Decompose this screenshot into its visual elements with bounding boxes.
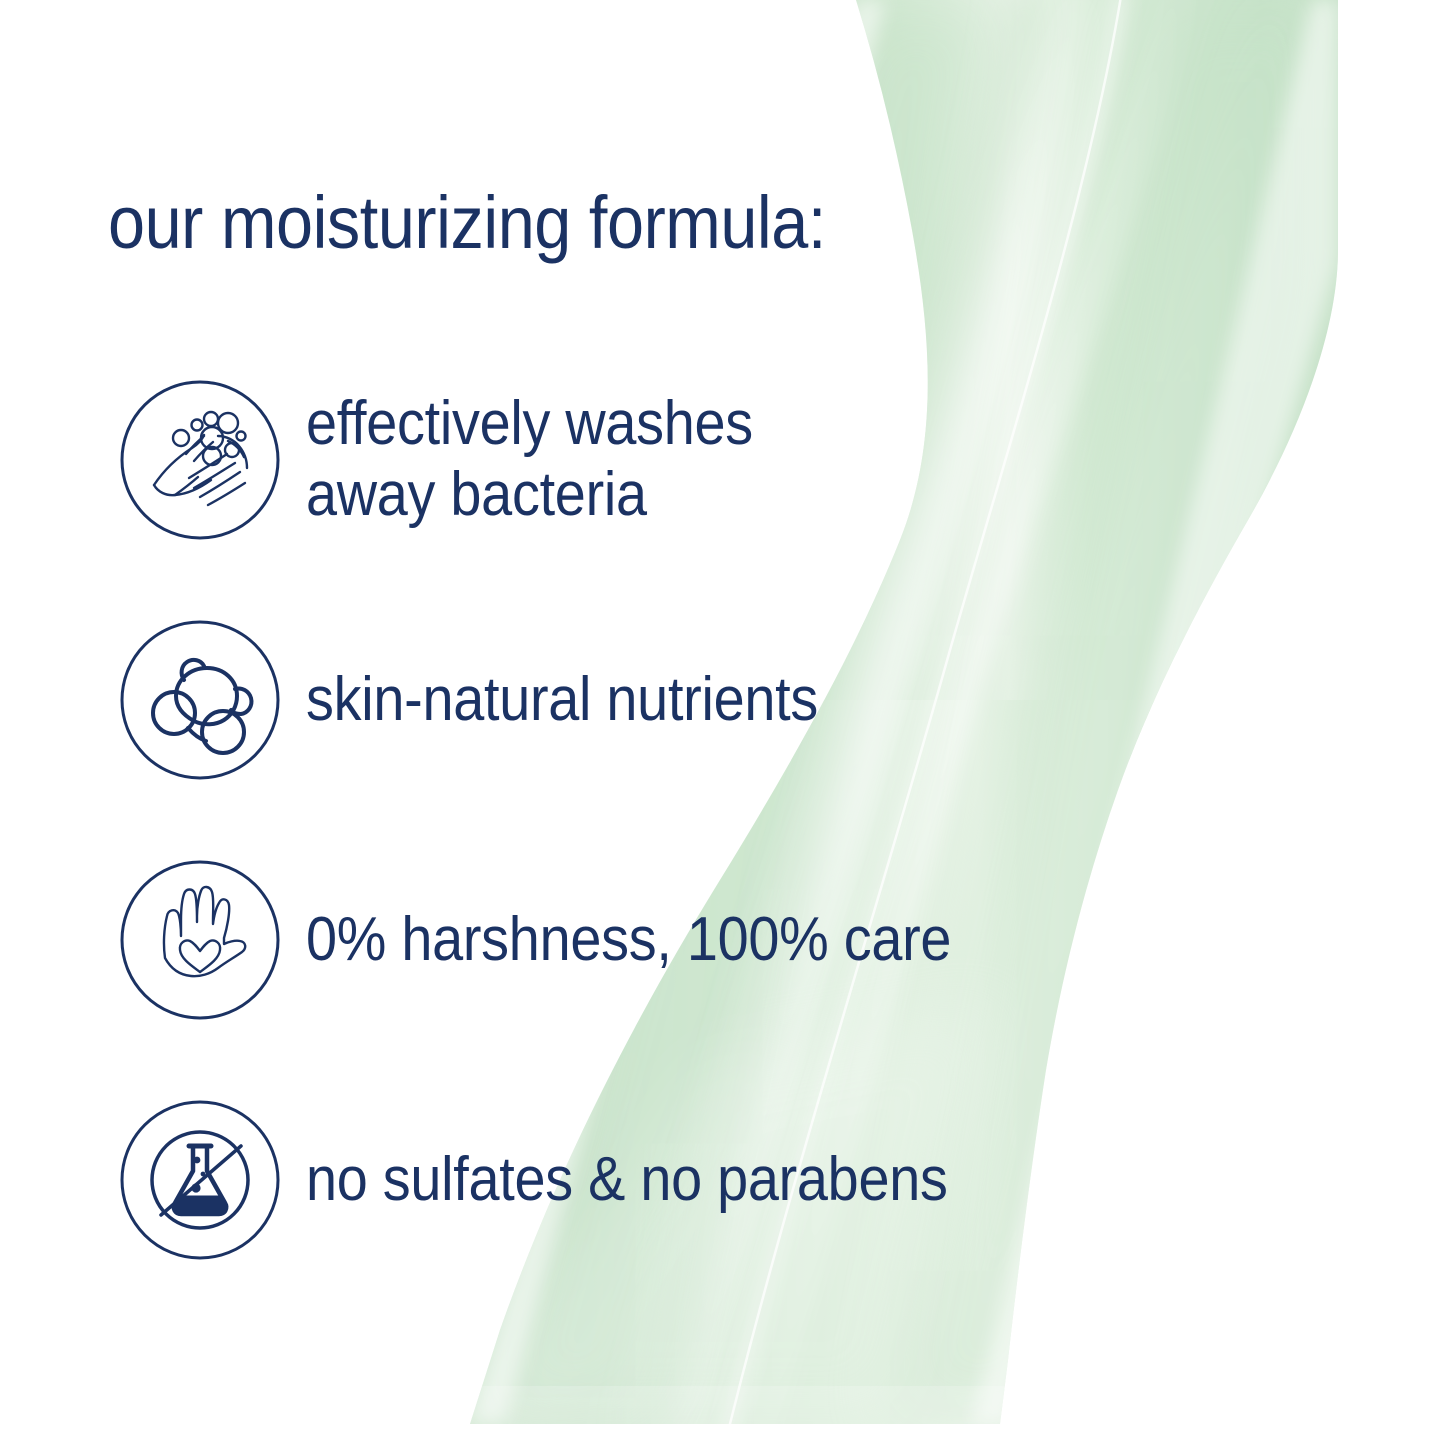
feature-item-no-sulfates-no-parabens: no sulfates & no parabens [118,1098,1019,1262]
feature-item-effectively-washes: effectively washes away bacteria [118,378,803,542]
no-flask-prohibited-icon [118,1098,282,1262]
hand-with-heart-icon [118,858,282,1022]
feature-label: no sulfates & no parabens [306,1145,948,1216]
feature-label: 0% harshness, 100% care [306,905,951,976]
feature-item-zero-harshness: 0% harshness, 100% care [118,858,1023,1022]
hands-washing-bubbles-icon [118,378,282,542]
nutrient-molecules-icon [118,618,282,782]
feature-label: effectively washes away bacteria [306,389,753,530]
product-feature-graphic: our moisturizing formula: [0,0,1445,1445]
feature-label: skin-natural nutrients [306,665,818,736]
feature-item-skin-natural-nutrients: skin-natural nutrients [118,618,875,782]
page-title: our moisturizing formula: [108,186,826,260]
